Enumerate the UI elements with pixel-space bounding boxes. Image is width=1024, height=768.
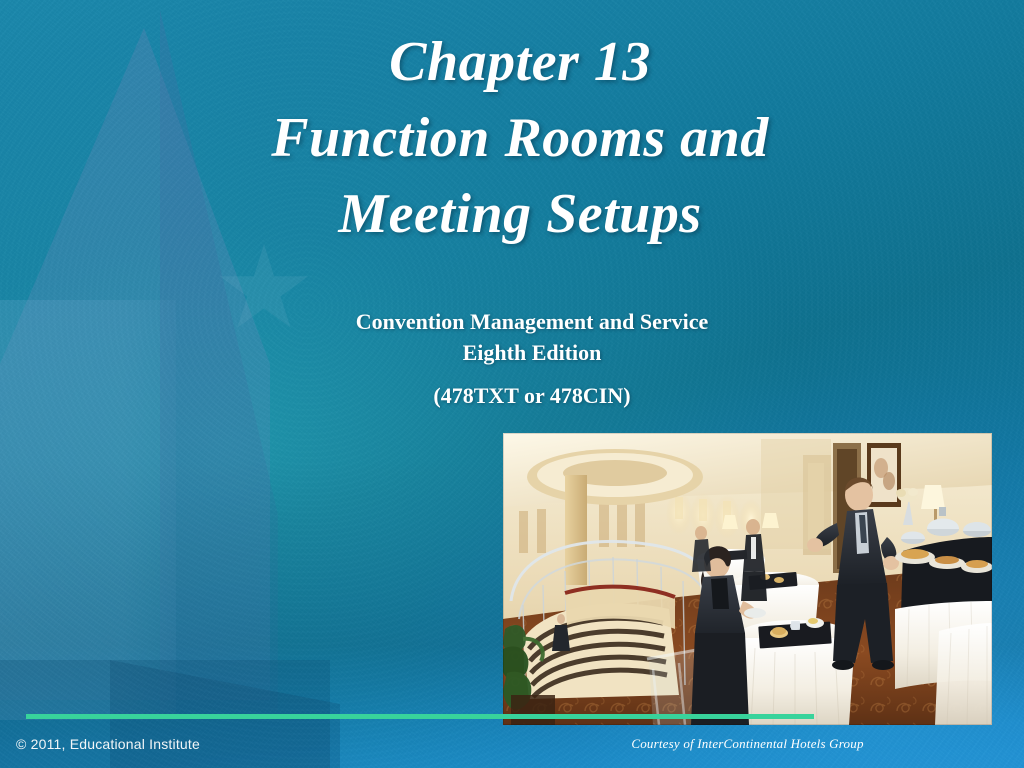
pyramid-column-shape: [0, 300, 176, 720]
presentation-slide: Chapter 13 Function Rooms and Meeting Se…: [0, 0, 1024, 768]
slide-subtitle: Convention Management and Service Eighth…: [212, 306, 852, 411]
subtitle-book-title: Convention Management and Service: [212, 306, 852, 337]
slide-title: Chapter 13 Function Rooms and Meeting Se…: [150, 24, 890, 252]
photo-credit: Courtesy of InterContinental Hotels Grou…: [503, 736, 992, 752]
accent-rule: [26, 714, 814, 719]
title-line-2: Function Rooms and: [150, 100, 890, 176]
title-line-1: Chapter 13: [150, 24, 890, 100]
function-room-photo: [503, 433, 992, 725]
copyright-notice: © 2011, Educational Institute: [16, 736, 200, 752]
subtitle-edition: Eighth Edition: [212, 337, 852, 368]
subtitle-product-code: (478TXT or 478CIN): [212, 380, 852, 411]
title-line-3: Meeting Setups: [150, 176, 890, 252]
